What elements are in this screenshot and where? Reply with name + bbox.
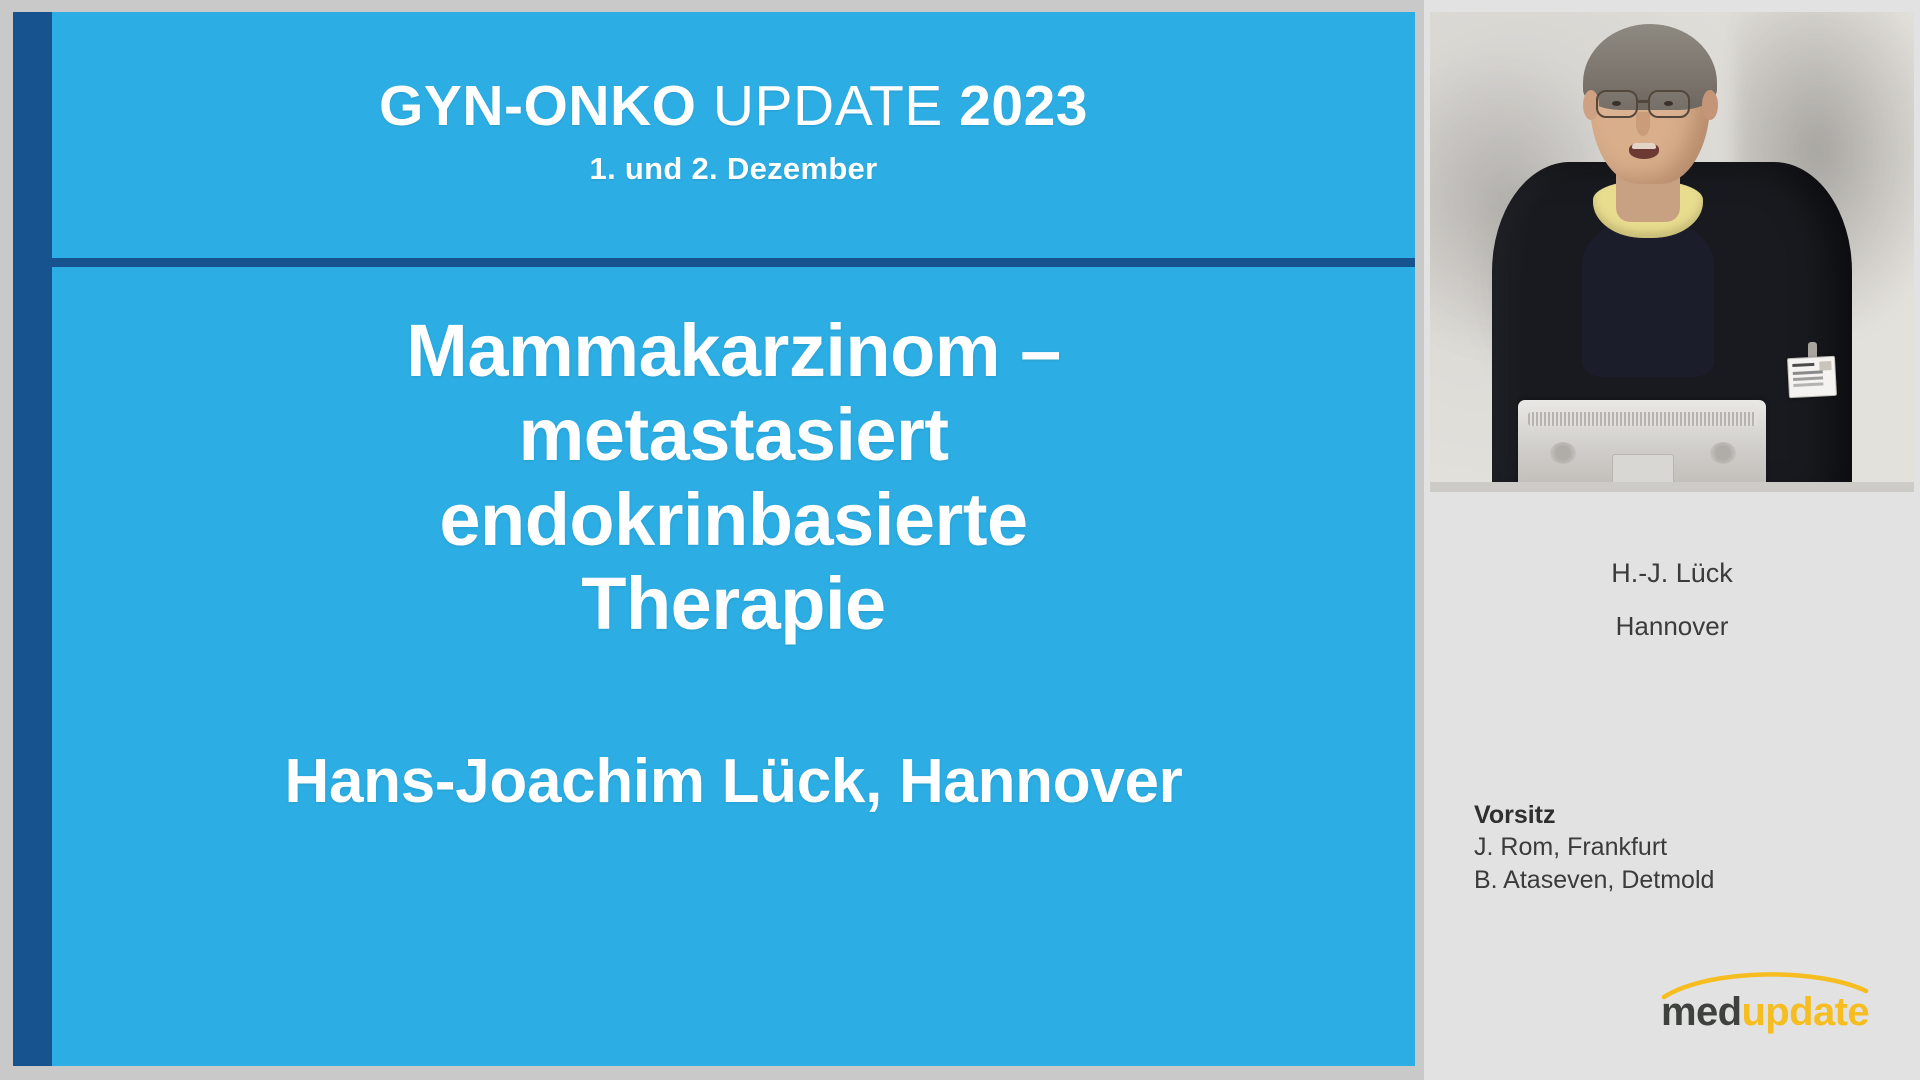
- event-brand: GYN-ONKO: [379, 74, 697, 138]
- presentation-slide[interactable]: GYN-ONKO UPDATE 2023 1. und 2. Dezember …: [13, 12, 1415, 1066]
- speaker-nose: [1636, 112, 1650, 136]
- slide-body: Mammakarzinom – metastasiert endokrinbas…: [52, 267, 1415, 1066]
- chair-info: Vorsitz J. Rom, Frankfurt B. Ataseven, D…: [1474, 800, 1904, 896]
- speaker-eye-right: [1664, 101, 1673, 106]
- event-year: 2023: [959, 74, 1088, 138]
- slide-main-title: Mammakarzinom – metastasiert endokrinbas…: [284, 309, 1184, 646]
- chair-heading: Vorsitz: [1474, 800, 1904, 831]
- speaker-city: Hannover: [1430, 613, 1914, 639]
- logo-wordmark: medupdate: [1650, 992, 1880, 1032]
- speaker-teeth: [1632, 143, 1656, 149]
- chair-person-1: J. Rom, Frankfurt: [1474, 831, 1904, 864]
- slide-event-dates: 1. und 2. Dezember: [590, 151, 878, 187]
- speaker-info: H.-J. Lück Hannover: [1430, 560, 1914, 639]
- speaker-ear-right: [1702, 90, 1718, 120]
- name-badge: [1787, 356, 1837, 398]
- slide-header-divider: [13, 258, 1415, 267]
- logo-word-update: update: [1741, 990, 1869, 1034]
- slide-event-title: GYN-ONKO UPDATE 2023: [379, 77, 1088, 137]
- medupdate-logo[interactable]: medupdate: [1650, 966, 1880, 1044]
- slide-region: GYN-ONKO UPDATE 2023 1. und 2. Dezember …: [0, 0, 1424, 1080]
- name-badge-text-lines: [1793, 370, 1823, 374]
- podium-edge: [1430, 482, 1914, 492]
- slide-accent-spine: [13, 12, 52, 1066]
- event-product: UPDATE: [713, 74, 943, 138]
- speaker-name: H.-J. Lück: [1430, 560, 1914, 587]
- name-badge-number: [1819, 361, 1831, 371]
- monitor-vent: [1528, 412, 1756, 426]
- slide-header: GYN-ONKO UPDATE 2023 1. und 2. Dezember: [52, 12, 1415, 258]
- logo-word-med: med: [1661, 990, 1741, 1034]
- presentation-viewer: GYN-ONKO UPDATE 2023 1. und 2. Dezember …: [0, 0, 1920, 1080]
- slide-presenter-name: Hans-Joachim Lück, Hannover: [284, 746, 1182, 817]
- speaker-sweater: [1582, 217, 1714, 377]
- glasses-bridge-icon: [1638, 100, 1648, 103]
- chair-person-2: B. Ataseven, Detmold: [1474, 864, 1904, 897]
- name-badge-bar: [1792, 363, 1814, 367]
- speaker-eye-left: [1612, 101, 1621, 106]
- speaker-video[interactable]: [1430, 12, 1914, 492]
- sidebar-panel: H.-J. Lück Hannover Vorsitz J. Rom, Fran…: [1424, 0, 1920, 1080]
- monitor-speaker-left: [1550, 442, 1576, 464]
- monitor-speaker-right: [1710, 442, 1736, 464]
